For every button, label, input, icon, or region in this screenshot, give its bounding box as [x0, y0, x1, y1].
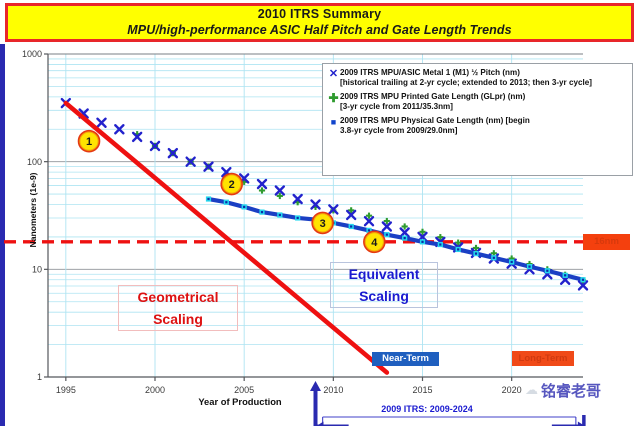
svg-text:1: 1 [37, 372, 42, 382]
equivalent-scaling-line2: Scaling [359, 288, 409, 304]
legend-entry-physical-gate-length: ■ 2009 ITRS MPU Physical Gate Length (nm… [327, 116, 628, 135]
svg-text:1000: 1000 [22, 49, 42, 59]
svg-text:3: 3 [320, 218, 326, 230]
legend-note-m1-half-pitch: [historical trailing at 2-yr cycle; exte… [340, 78, 592, 87]
badge-near-term: Near-Term [372, 352, 439, 366]
watermark: ☁ 铭睿老哥 [525, 378, 633, 402]
geometrical-scaling-line2: Scaling [153, 311, 203, 327]
annotation-geometrical-scaling: Geometrical Scaling [118, 285, 238, 331]
legend-label-physical-gate-length: 2009 ITRS MPU Physical Gate Length (nm) … [340, 116, 530, 125]
svg-text:2: 2 [229, 179, 235, 191]
equivalent-scaling-line1: Equivalent [349, 266, 420, 282]
y-axis-title: Nanometers (1e-9) [28, 150, 38, 270]
page-subtitle: MPU/high-performance ASIC Half Pitch and… [127, 22, 511, 38]
legend-x-marker-icon: ✕ [327, 68, 340, 80]
svg-text:4: 4 [371, 237, 378, 249]
legend-plus-marker-icon: ✚ [327, 92, 340, 104]
watermark-text: 铭睿老哥 [541, 380, 601, 401]
svg-text:1995: 1995 [56, 385, 76, 395]
page-title: 2010 ITRS Summary [258, 7, 382, 22]
legend-entry-printed-gate-length: ✚ 2009 ITRS MPU Printed Gate Length (GLp… [327, 92, 628, 111]
annotation-itrs-span: 2009 ITRS: 2009-2024 [352, 404, 502, 414]
svg-text:2010: 2010 [323, 385, 343, 395]
x-axis-title: Year of Production [150, 396, 330, 407]
chart-legend: ✕ 2009 ITRS MPU/ASIC Metal 1 (M1) ½ Pitc… [322, 63, 633, 176]
svg-text:2015: 2015 [412, 385, 432, 395]
title-banner: 2010 ITRS Summary MPU/high-performance A… [5, 3, 634, 42]
svg-text:2020: 2020 [502, 385, 522, 395]
x-axis-ticks: 199520002005201020152020 [56, 377, 522, 395]
legend-entry-m1-half-pitch: ✕ 2009 ITRS MPU/ASIC Metal 1 (M1) ½ Pitc… [327, 68, 628, 87]
svg-text:2005: 2005 [234, 385, 254, 395]
geometrical-scaling-line1: Geometrical [138, 289, 219, 305]
badge-long-term: Long-Term [512, 351, 574, 366]
itrs-chart-page: 2010 ITRS Summary MPU/high-performance A… [0, 0, 639, 426]
legend-label-printed-gate-length: 2009 ITRS MPU Printed Gate Length (GLpr)… [340, 92, 525, 101]
legend-square-marker-icon: ■ [327, 116, 340, 128]
cloud-icon: ☁ [525, 382, 538, 398]
badge-node-callout: 16nm [583, 234, 630, 250]
annotation-equivalent-scaling: Equivalent Scaling [330, 262, 438, 308]
svg-text:1: 1 [86, 136, 92, 148]
legend-note-printed-gate-length: [3-yr cycle from 2011/35.3nm] [340, 102, 453, 111]
legend-label-m1-half-pitch: 2009 ITRS MPU/ASIC Metal 1 (M1) ½ Pitch … [340, 68, 520, 77]
svg-text:2000: 2000 [145, 385, 165, 395]
legend-note-physical-gate-length: 3.8-yr cycle from 2009/29.0nm] [340, 126, 457, 135]
